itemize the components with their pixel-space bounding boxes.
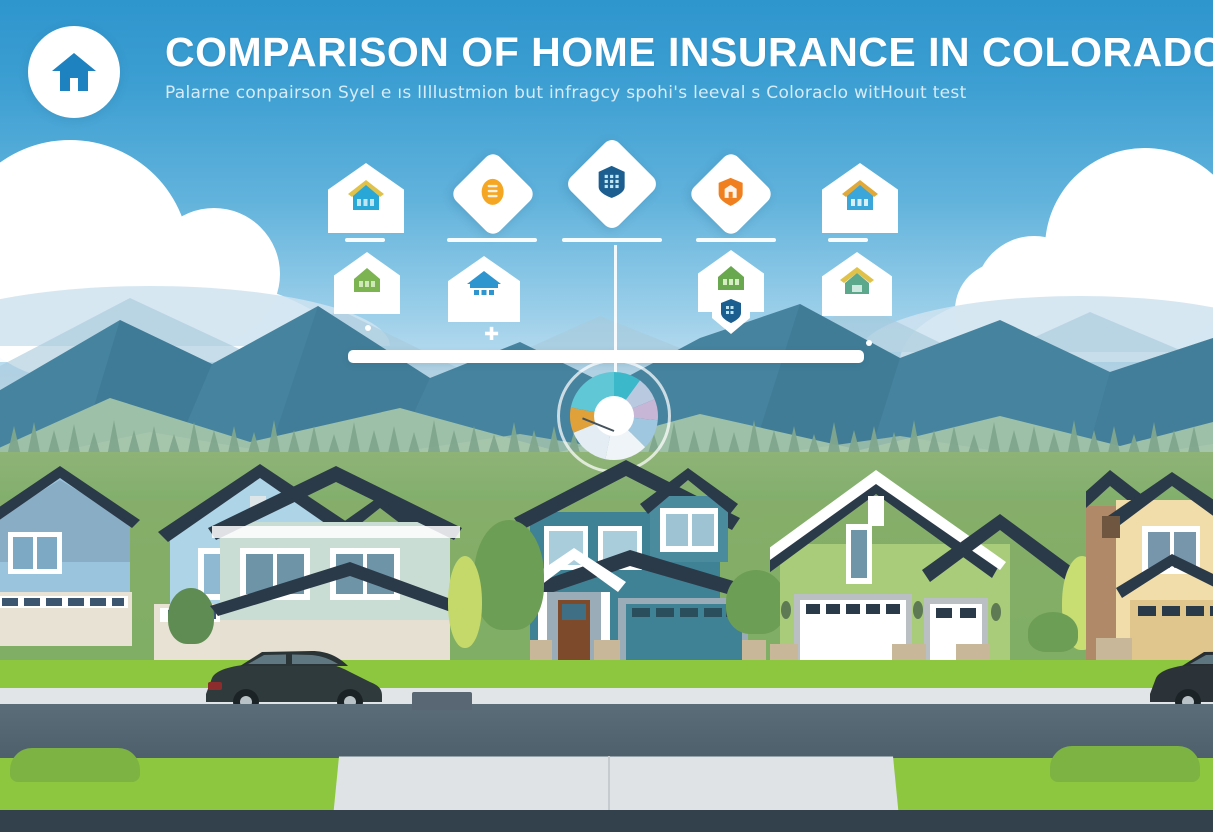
diamond-badge	[564, 136, 660, 232]
node-shield-orange[interactable]	[700, 163, 762, 225]
shrub-center-left	[474, 520, 544, 630]
shield-icon	[717, 177, 745, 212]
policy-share-donut[interactable]	[566, 368, 662, 464]
node-home-teal[interactable]	[328, 163, 404, 233]
building-icon	[597, 165, 627, 204]
tick-node-2	[447, 238, 537, 242]
house-icon	[350, 265, 384, 301]
infographic-canvas: COMPARISON OF HOME INSURANCE IN COLORADO…	[0, 0, 1213, 832]
node-home-blue[interactable]	[448, 256, 520, 322]
tick-node-4	[696, 238, 776, 242]
house-badge	[328, 163, 404, 233]
node-home-amber[interactable]	[822, 163, 898, 233]
diamond-badge	[687, 150, 775, 238]
header-text-block: COMPARISON OF HOME INSURANCE IN COLORADO…	[165, 30, 1165, 103]
crosswalk-slab	[333, 756, 899, 818]
house-badge	[822, 252, 892, 316]
house-icon	[346, 178, 386, 219]
node-home-green[interactable]	[334, 252, 400, 314]
road-surface	[0, 704, 1213, 760]
house-badge	[334, 252, 400, 314]
logo-badge	[28, 26, 120, 118]
page-subtitle: Palarne conpairson Syel e ıs lIllustmion…	[165, 83, 1165, 103]
node-shield-green[interactable]	[698, 250, 764, 312]
dot-right	[866, 340, 872, 346]
tick-node-5	[828, 238, 868, 242]
house-icon	[465, 270, 503, 309]
road-bottom-edge	[0, 810, 1213, 832]
house-icon	[840, 178, 880, 219]
node-coin-orange[interactable]	[462, 163, 524, 225]
node-building-blue[interactable]	[578, 150, 646, 218]
house-badge	[448, 256, 520, 322]
utility-box	[412, 692, 472, 710]
beam-stem-upper	[614, 245, 617, 353]
sparkle-icon: ✚	[484, 325, 499, 343]
shrub-right	[1028, 612, 1078, 652]
bush-bottom-left	[10, 748, 140, 782]
home-icon	[50, 50, 98, 94]
house-icon	[838, 265, 876, 304]
tick-node-1	[345, 238, 385, 242]
dot-left	[365, 325, 371, 331]
page-title: COMPARISON OF HOME INSURANCE IN COLORADO	[165, 30, 1165, 74]
tree-center-yellow	[448, 556, 482, 648]
tick-node-3	[562, 238, 662, 242]
crosswalk-seam	[608, 756, 610, 818]
house-badge	[822, 163, 898, 233]
bush-bottom-right	[1050, 746, 1200, 782]
coin-icon	[479, 177, 507, 212]
diamond-badge	[449, 150, 537, 238]
house-icon	[714, 263, 748, 299]
node-home-green-gold[interactable]	[822, 252, 892, 316]
